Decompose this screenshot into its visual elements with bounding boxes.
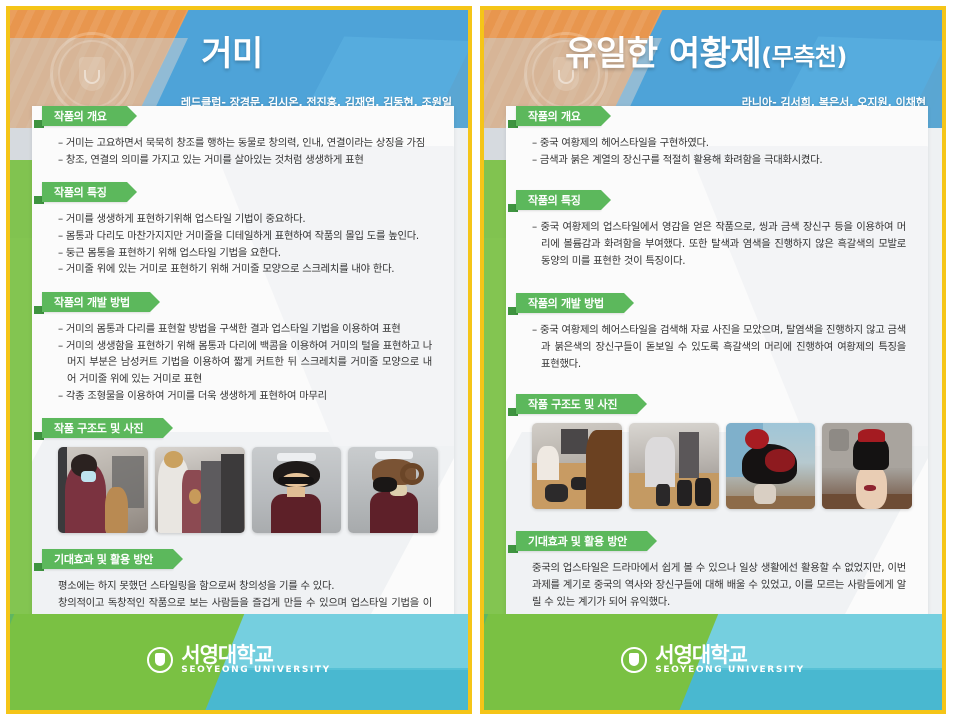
- paragraph: 평소에는 하지 못했던 스타일링을 함으로써 창의성을 기를 수 있다.: [58, 578, 432, 595]
- footer-university-logo: 서영대학교 SEOYEONG UNIVERSITY: [10, 644, 468, 675]
- footer-logo-text: 서영대학교 SEOYEONG UNIVERSITY: [655, 644, 804, 675]
- section-ribbon-wrap: 기대효과 및 활용 방안: [516, 531, 928, 551]
- photo-thumbnail[interactable]: [532, 423, 622, 509]
- photo-shape: [81, 471, 95, 481]
- photo-shape: [545, 484, 568, 503]
- photo-shape: [221, 454, 244, 533]
- bullet-line: – 거미는 고요하면서 묵묵히 창조를 행하는 동물로 창의력, 인내, 연결이…: [58, 135, 436, 152]
- photo-shape: [537, 446, 559, 480]
- footer-university-name-en: SEOYEONG UNIVERSITY: [181, 666, 330, 675]
- photo-thumbnail[interactable]: [58, 447, 148, 533]
- poster-title-text: 거미: [201, 34, 263, 74]
- bullet-line: – 거미를 생생하게 표현하기위해 업스타일 기법이 중요하다.: [58, 211, 436, 228]
- photo-shape: [677, 480, 691, 506]
- bullet-line: – 둥근 몸통을 표현하기 위해 업스타일 기법을 요한다.: [58, 245, 436, 262]
- photo-thumbnail[interactable]: [629, 423, 719, 509]
- page-title: 유일한 여황제(무측천): [484, 26, 928, 75]
- photo-shape: [561, 429, 588, 455]
- section-expected-effects: 기대효과 및 활용 방안 중국의 업스타일은 드라마에서 쉽게 볼 수 있으나 …: [506, 531, 928, 610]
- poster-right: 유일한 여황제(무측천) 라니아- 김서희, 복은서, 오지원, 이채현 작품의…: [480, 6, 946, 714]
- poster-pair-canvas: 거미 레드클럽- 장경문, 김시온, 전진홍, 김재엽, 김동현, 조원일 작품…: [0, 0, 960, 720]
- section-label: 기대효과 및 활용 방안: [42, 549, 173, 569]
- section-text: – 거미의 몸통과 다리를 표현할 방법을 구색한 결과 업스타일 기법을 이용…: [32, 312, 454, 404]
- mark-shield-icon: [629, 653, 639, 666]
- photo-shape: [373, 477, 396, 492]
- section-label: 작품의 개발 방법: [516, 293, 624, 313]
- section-overview: 작품의 개요 – 거미는 고요하면서 묵묵히 창조를 행하는 동물로 창의력, …: [32, 106, 454, 168]
- photo-thumbnail[interactable]: [348, 447, 438, 533]
- photo-shape: [656, 484, 670, 506]
- photo-strip: [32, 438, 454, 533]
- photo-shape: [277, 453, 316, 462]
- photo-shape: [400, 463, 423, 485]
- section-label: 작품의 특징: [516, 190, 601, 210]
- section-ribbon-wrap: 작품의 개요: [516, 106, 928, 126]
- bullet-line: – 중국 여황제의 헤어스타일을 검색해 자료 사진을 모았으며, 탈염색을 진…: [532, 322, 906, 372]
- photo-shape: [375, 451, 413, 460]
- bullet-line: – 거미줄 위에 있는 거미로 표현하기 위해 거미줄 모양으로 스크레치를 내…: [58, 261, 436, 278]
- mark-shield-icon: [155, 653, 165, 666]
- poster-left-inner: 거미 레드클럽- 장경문, 김시온, 전진홍, 김재엽, 김동현, 조원일 작품…: [10, 10, 468, 710]
- photo-shape: [765, 449, 796, 471]
- card-body: 작품의 개요 – 중국 여황제의 헤어스타일을 구현하였다. – 금색과 붉은 …: [506, 106, 928, 610]
- photo-shape: [864, 485, 877, 491]
- poster-right-footer: 서영대학교 SEOYEONG UNIVERSITY: [484, 614, 942, 710]
- section-photos: 작품 구조도 및 사진: [32, 418, 454, 533]
- photo-shape: [645, 437, 676, 487]
- photo-shape: [858, 429, 885, 443]
- section-text: – 중국 여황제의 헤어스타일을 구현하였다. – 금색과 붉은 계열의 장신구…: [506, 126, 928, 168]
- photo-shape: [745, 429, 768, 450]
- bullet-line: – 중국 여황제의 헤어스타일을 구현하였다.: [532, 135, 910, 152]
- poster-title-text: 유일한 여황제: [565, 34, 761, 74]
- section-overview: 작품의 개요 – 중국 여황제의 헤어스타일을 구현하였다. – 금색과 붉은 …: [506, 106, 928, 168]
- section-text: – 거미를 생생하게 표현하기위해 업스타일 기법이 중요하다. – 몸통과 다…: [32, 202, 454, 278]
- photo-shape: [695, 478, 711, 506]
- paragraph: 중국의 업스타일은 드라마에서 쉽게 볼 수 있으나 일상 생활에선 활용할 수…: [532, 560, 906, 610]
- section-ribbon-wrap: 작품의 특징: [516, 190, 928, 210]
- section-label: 작품의 특징: [42, 182, 127, 202]
- section-text: – 중국 여황제의 업스타일에서 영감을 얻은 작품으로, 씽과 금색 장신구 …: [506, 210, 928, 269]
- photo-shape: [754, 484, 776, 505]
- section-ribbon-wrap: 작품의 개발 방법: [42, 292, 454, 312]
- section-ribbon-wrap: 작품의 개요: [42, 106, 454, 126]
- footer-university-name-ko: 서영대학교: [655, 644, 804, 666]
- section-development: 작품의 개발 방법 – 중국 여황제의 헤어스타일을 검색해 자료 사진을 모았…: [506, 293, 928, 372]
- bullet-line: – 창조, 연결의 의미를 가지고 있는 거미를 살아있는 것처럼 생생하게 표…: [58, 152, 436, 169]
- card-body: 작품의 개요 – 거미는 고요하면서 묵묵히 창조를 행하는 동물로 창의력, …: [32, 106, 454, 628]
- bullet-line: – 중국 여황제의 업스타일에서 영감을 얻은 작품으로, 씽과 금색 장신구 …: [532, 219, 906, 269]
- photo-strip: [506, 414, 928, 509]
- section-label: 기대효과 및 활용 방안: [516, 531, 647, 551]
- poster-title-paren: (무측천): [761, 43, 847, 71]
- footer-logo-text: 서영대학교 SEOYEONG UNIVERSITY: [181, 644, 330, 675]
- footer-university-name-en: SEOYEONG UNIVERSITY: [655, 666, 804, 675]
- section-development: 작품의 개발 방법 – 거미의 몸통과 다리를 표현할 방법을 구색한 결과 업…: [32, 292, 454, 404]
- bullet-line: – 금색과 붉은 계열의 장신구를 적절히 활용해 화려함을 극대화시켰다.: [532, 152, 910, 169]
- poster-left: 거미 레드클럽- 장경문, 김시온, 전진홍, 김재엽, 김동현, 조원일 작품…: [6, 6, 472, 714]
- university-mark-icon: [621, 647, 647, 673]
- photo-thumbnail[interactable]: [252, 447, 342, 533]
- bullet-line: – 거미의 몸통과 다리를 표현할 방법을 구색한 결과 업스타일 기법을 이용…: [58, 321, 432, 338]
- section-ribbon-wrap: 작품 구조도 및 사진: [42, 418, 454, 438]
- photo-shape: [201, 461, 221, 533]
- bullet-line: – 몸통과 다리도 마찬가지지만 거미줄을 디테일하게 표현하여 작품의 몰입 …: [58, 228, 436, 245]
- photo-shape: [679, 432, 699, 478]
- page-title: 거미: [10, 26, 454, 75]
- section-text: 중국의 업스타일은 드라마에서 쉽게 볼 수 있으나 일상 생활에선 활용할 수…: [506, 551, 928, 610]
- bullet-line: – 각종 조형물을 이용하여 거미를 더욱 생생하게 표현하여 마무리: [58, 388, 432, 405]
- photo-thumbnail[interactable]: [726, 423, 816, 509]
- bullet-line: – 거미의 생생함을 표현하기 위해 몸통과 다리에 백콤을 이용하여 거미의 …: [58, 338, 432, 388]
- section-features: 작품의 특징 – 거미를 생생하게 표현하기위해 업스타일 기법이 중요하다. …: [32, 182, 454, 278]
- footer-university-logo: 서영대학교 SEOYEONG UNIVERSITY: [484, 644, 942, 675]
- photo-shape: [278, 477, 314, 484]
- poster-left-content-card: 작품의 개요 – 거미는 고요하면서 묵묵히 창조를 행하는 동물로 창의력, …: [32, 106, 454, 632]
- photo-shape: [829, 429, 849, 451]
- section-photos: 작품 구조도 및 사진: [506, 394, 928, 509]
- photo-shape: [287, 487, 305, 497]
- section-label: 작품 구조도 및 사진: [516, 394, 637, 414]
- section-text: – 거미는 고요하면서 묵묵히 창조를 행하는 동물로 창의력, 인내, 연결이…: [32, 126, 454, 168]
- photo-shape: [105, 487, 128, 533]
- section-ribbon-wrap: 작품의 특징: [42, 182, 454, 202]
- poster-left-footer: 서영대학교 SEOYEONG UNIVERSITY: [10, 614, 468, 710]
- poster-right-inner: 유일한 여황제(무측천) 라니아- 김서희, 복은서, 오지원, 이채현 작품의…: [484, 10, 942, 710]
- section-ribbon-wrap: 작품 구조도 및 사진: [516, 394, 928, 414]
- photo-thumbnail[interactable]: [155, 447, 245, 533]
- photo-shape: [271, 494, 321, 534]
- poster-right-content-card: 작품의 개요 – 중국 여황제의 헤어스타일을 구현하였다. – 금색과 붉은 …: [506, 106, 928, 632]
- photo-shape: [370, 492, 418, 533]
- section-features: 작품의 특징 – 중국 여황제의 업스타일에서 영감을 얻은 작품으로, 씽과 …: [506, 190, 928, 269]
- university-mark-icon: [147, 647, 173, 673]
- photo-thumbnail[interactable]: [822, 423, 912, 509]
- section-label: 작품의 개요: [516, 106, 601, 126]
- footer-university-name-ko: 서영대학교: [181, 644, 330, 666]
- photo-shape: [586, 430, 622, 509]
- section-label: 작품의 개발 방법: [42, 292, 150, 312]
- section-label: 작품 구조도 및 사진: [42, 418, 163, 438]
- section-ribbon-wrap: 기대효과 및 활용 방안: [42, 549, 454, 569]
- section-label: 작품의 개요: [42, 106, 127, 126]
- section-text: – 중국 여황제의 헤어스타일을 검색해 자료 사진을 모았으며, 탈염색을 진…: [506, 313, 928, 372]
- section-ribbon-wrap: 작품의 개발 방법: [516, 293, 928, 313]
